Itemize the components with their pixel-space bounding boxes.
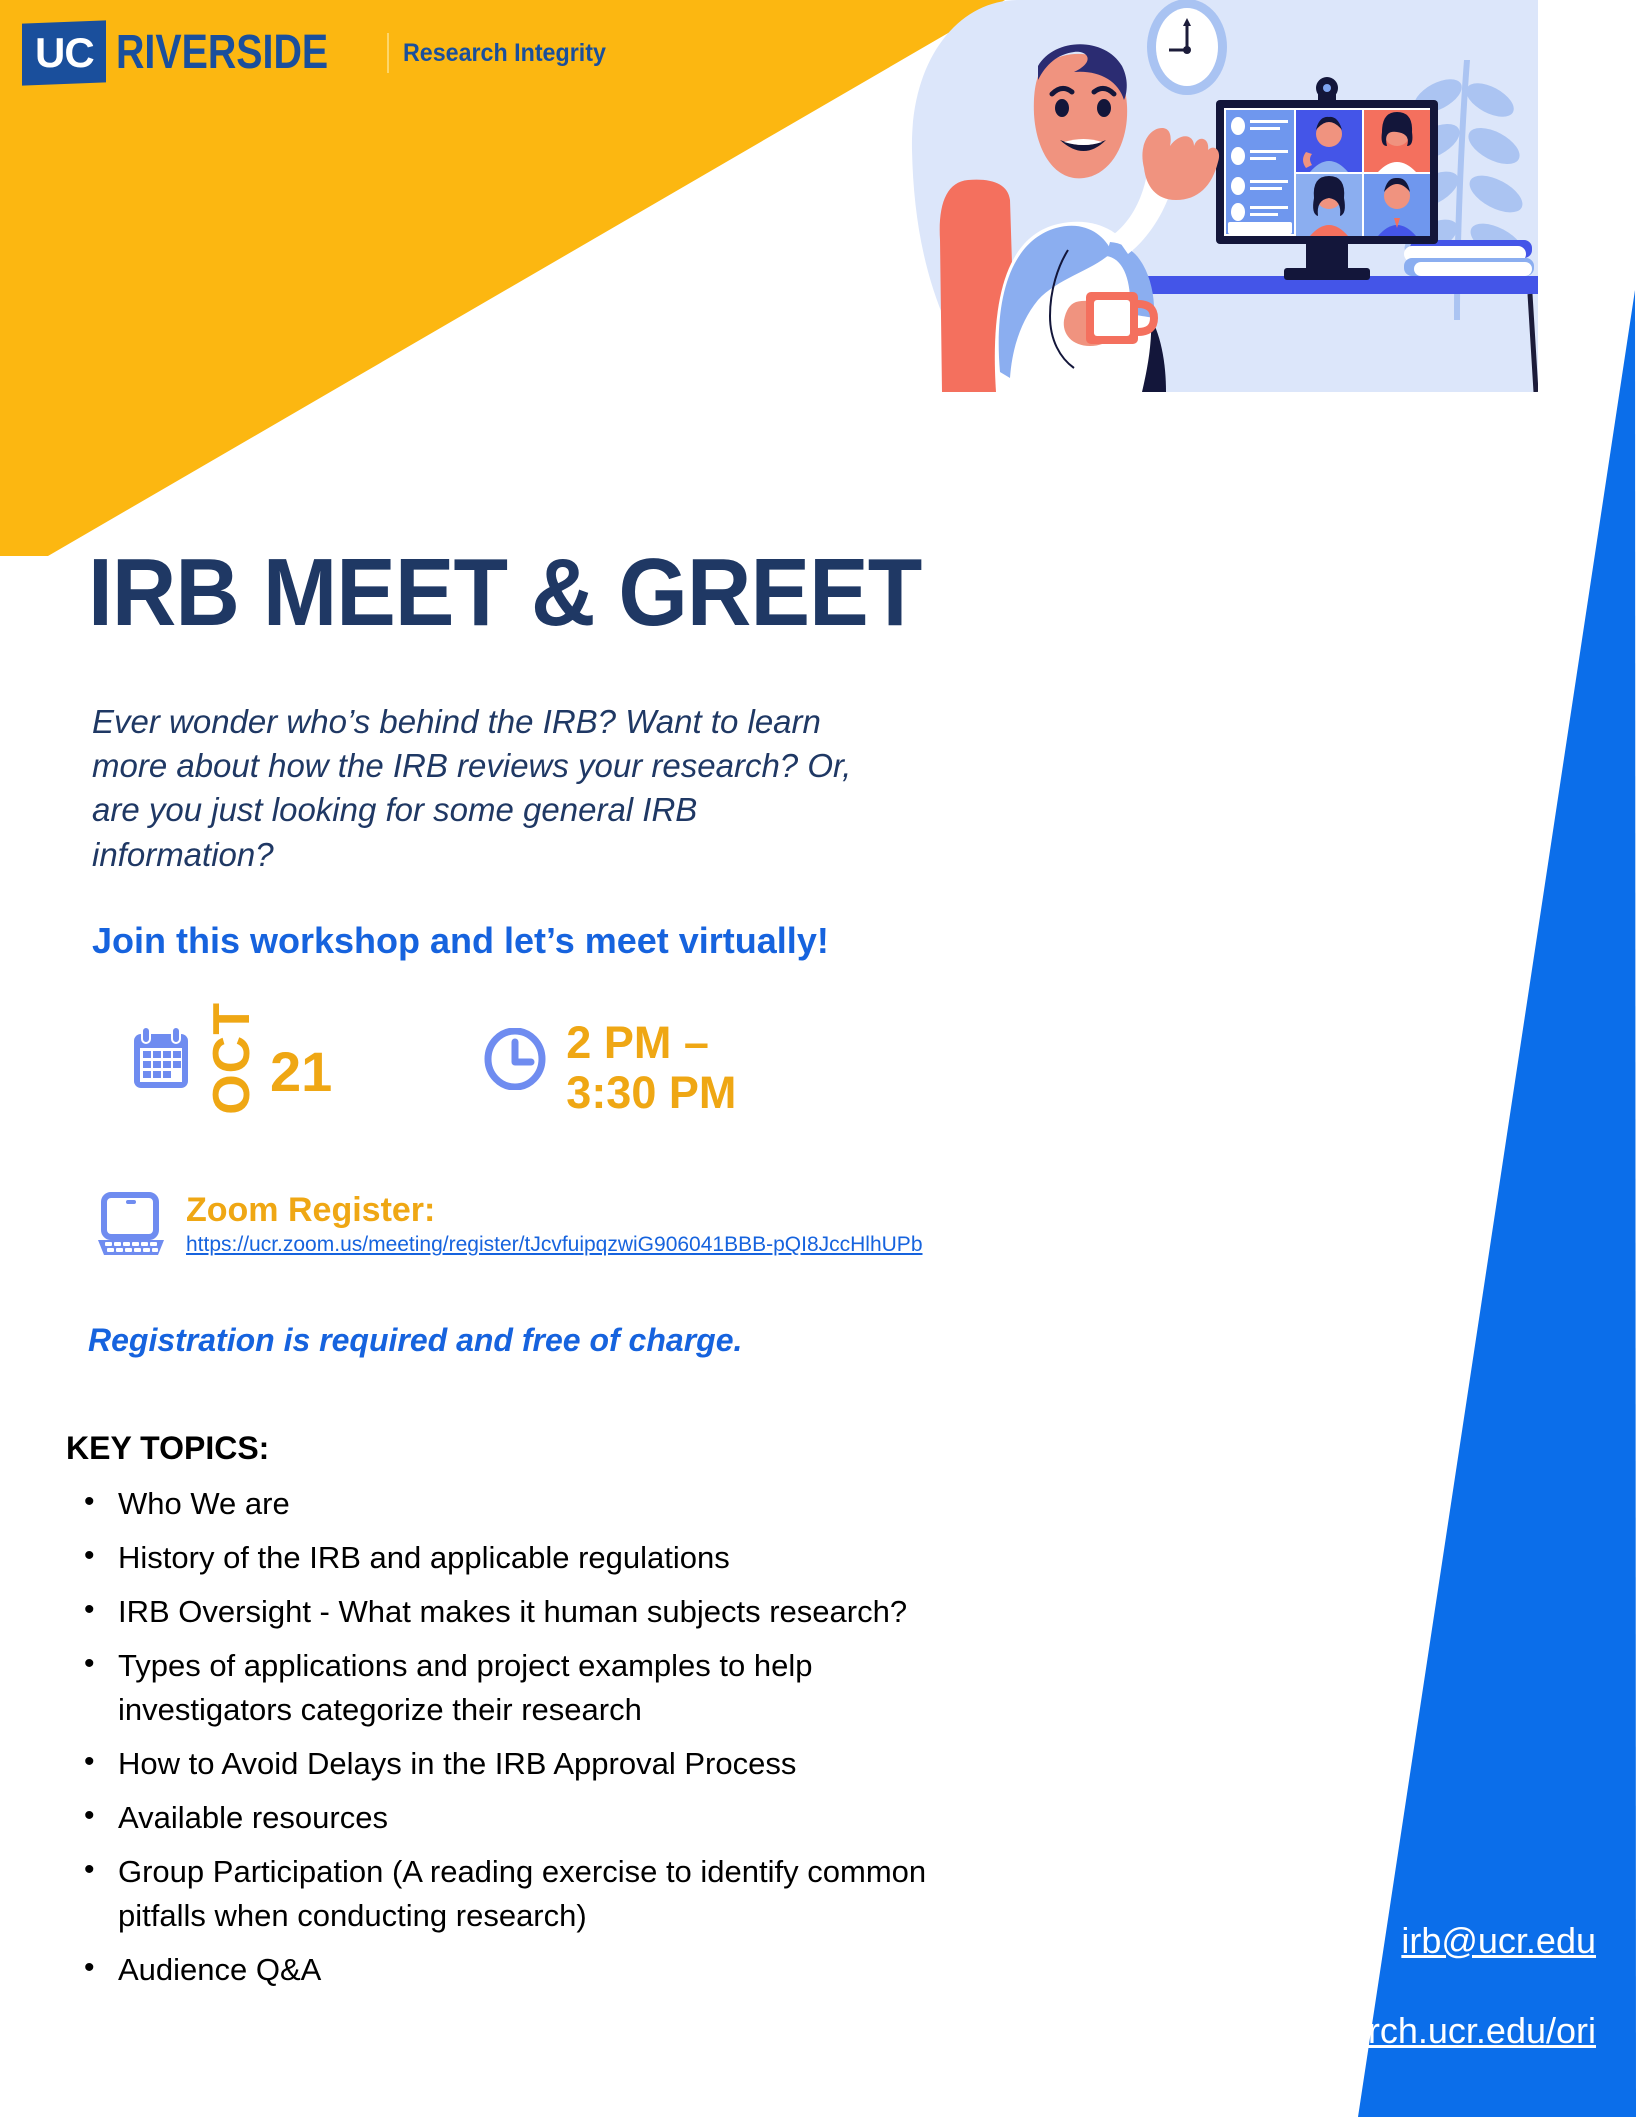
list-item: Who We are: [118, 1482, 928, 1526]
intro-paragraph: Ever wonder who’s behind the IRB? Want t…: [92, 700, 852, 877]
event-day: 21: [270, 1044, 332, 1100]
yellow-diagonal-banner: [0, 0, 1010, 560]
blue-diagonal-banner: [976, 260, 1636, 2117]
unit-name: Research Integrity: [403, 39, 606, 68]
wall-clock: [1147, 0, 1227, 95]
key-topics-heading: KEY TOPICS:: [66, 1430, 269, 1467]
join-callout: Join this workshop and let’s meet virtua…: [92, 920, 829, 962]
list-item: How to Avoid Delays in the IRB Approval …: [118, 1742, 928, 1786]
page-title: IRB MEET & GREET: [88, 545, 921, 641]
time-line-2: 3:30 PM: [566, 1067, 736, 1118]
flyer-page: UC RIVERSIDE Research Integrity: [0, 0, 1636, 2117]
zoom-register-link[interactable]: https://ucr.zoom.us/meeting/register/tJc…: [186, 1233, 923, 1257]
riverside-wordmark: RIVERSIDE: [116, 29, 328, 77]
zoom-register-label: Zoom Register:: [186, 1192, 923, 1229]
event-time-text: 2 PM – 3:30 PM: [566, 1018, 736, 1117]
contact-email-link[interactable]: irb@ucr.edu: [1401, 1920, 1596, 1962]
list-item: History of the IRB and applicable regula…: [118, 1536, 928, 1580]
key-topics-list: Who We are History of the IRB and applic…: [76, 1482, 928, 2002]
list-item: Types of applications and project exampl…: [118, 1644, 928, 1732]
list-item: Available resources: [118, 1796, 928, 1840]
calendar-icon: [130, 1026, 192, 1097]
zoom-registration: Zoom Register: https://ucr.zoom.us/meeti…: [96, 1192, 923, 1263]
logo-divider: [387, 33, 389, 73]
zoom-text-block: Zoom Register: https://ucr.zoom.us/meeti…: [186, 1192, 923, 1257]
list-item: IRB Oversight - What makes it human subj…: [118, 1590, 928, 1634]
event-month: OCT: [206, 1002, 258, 1115]
clock-icon: [484, 1028, 546, 1095]
event-datetime: OCT 21 2 PM – 3:30 PM: [130, 1008, 736, 1117]
uc-badge: UC: [22, 20, 106, 85]
video-conference-illustration: [898, 0, 1538, 392]
ori-website-link[interactable]: https://research.ucr.edu/ori: [1170, 2010, 1596, 2052]
list-item: Group Participation (A reading exercise …: [118, 1850, 928, 1938]
time-line-1: 2 PM –: [566, 1017, 709, 1068]
ucr-logo: UC RIVERSIDE Research Integrity: [22, 22, 621, 84]
uc-badge-text: UC: [35, 29, 94, 77]
event-time: 2 PM – 3:30 PM: [332, 1008, 736, 1117]
laptop-icon: [96, 1192, 166, 1263]
event-date: OCT 21: [130, 1008, 332, 1115]
registration-note: Registration is required and free of cha…: [88, 1322, 742, 1359]
list-item: Audience Q&A: [118, 1948, 928, 1992]
